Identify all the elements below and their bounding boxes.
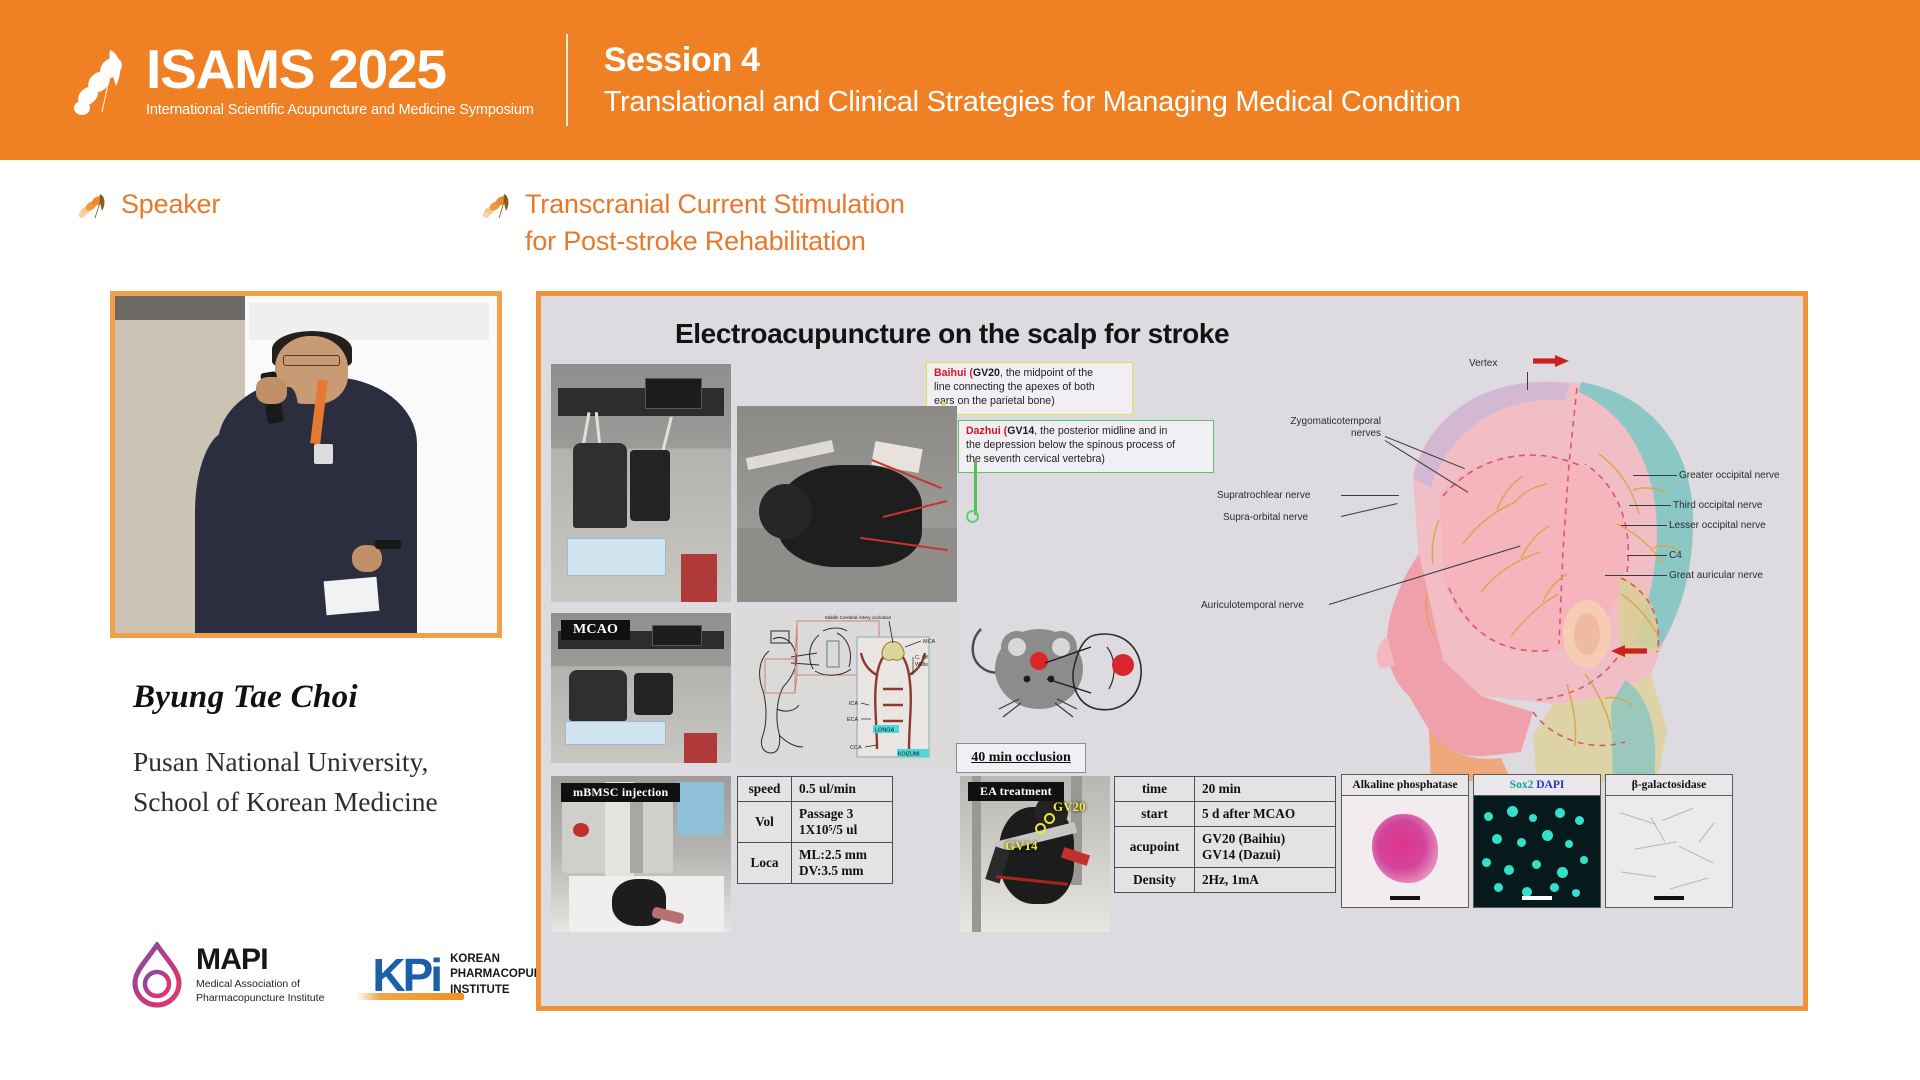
stain-title-sox2: Sox2 DAPI	[1473, 774, 1601, 796]
row-key: Vol	[738, 802, 792, 843]
logo-subtitle: International Scientific Acupuncture and…	[146, 102, 534, 118]
photo-mouse-stereotaxic	[737, 406, 957, 602]
callout-baihui: Baihui (GV20, the midpoint of the line c…	[926, 362, 1133, 415]
speaker-name: Byung Tae Choi	[133, 679, 358, 716]
speaker-heading-label: Speaker	[121, 186, 220, 223]
anatomy-label-supraorbital: Supra-orbital nerve	[1223, 512, 1308, 524]
mapi-sub-1: Medical Association of	[196, 978, 324, 991]
row-key: start	[1115, 802, 1195, 827]
ea-parameters-table: time 20 min start 5 d after MCAO acupoin…	[1114, 776, 1336, 893]
slide-title: Electroacupuncture on the scalp for stro…	[675, 318, 1229, 350]
row-value: 2Hz, 1mA	[1195, 868, 1336, 893]
row-key: time	[1115, 777, 1195, 802]
photo-bmsc-injection: mBMSC injection	[551, 776, 731, 932]
row-key: speed	[738, 777, 792, 802]
photo-surgical-rig	[551, 364, 731, 602]
occlusion-duration-box: 40 min occlusion	[956, 743, 1086, 773]
callout-baihui-line-1: Baihui (GV20, the midpoint of the	[934, 367, 1126, 381]
image-tag-bmsc: mBMSC injection	[561, 783, 680, 802]
isams-logo: ISAMS 2025 International Scientific Acup…	[68, 40, 534, 120]
arrow-icon-vertex	[1533, 354, 1569, 366]
logo-title: ISAMS 2025	[146, 42, 534, 97]
ea-label-gv20: GV20	[1053, 799, 1086, 815]
stain-panel-alp: Alkaline phosphatase	[1341, 774, 1469, 908]
row-value: 5 d after MCAO	[1195, 802, 1336, 827]
stain-image-bgal	[1605, 796, 1733, 908]
anatomy-label-auriculotemporal: Auriculotemporal nerve	[1201, 600, 1304, 612]
anatomy-label-zygomaticotemporal: Zygomaticotemporal nerves	[1231, 416, 1381, 440]
callout-dazhui-line-2: the depression below the spinous process…	[966, 439, 1207, 453]
affiliation-line-1: Pusan National University,	[133, 742, 438, 782]
row-key: Density	[1115, 868, 1195, 893]
header-divider	[566, 34, 568, 126]
callout-dazhui: Dazhui (GV14, the posterior midline and …	[958, 420, 1214, 473]
mcao-schematic: MCA C. Of Willis ICA ECA CCA LONGA KOIZU…	[737, 613, 959, 763]
arrow-icon-neck	[1611, 644, 1647, 656]
mapi-name: MAPI	[196, 945, 324, 975]
stain-panel-bgal: β-galactosidase	[1605, 774, 1733, 908]
table-row: acupoint GV20 (Baihiu) GV14 (Dazui)	[1115, 827, 1336, 868]
svg-text:C. Of: C. Of	[915, 655, 928, 661]
topic-line-1: Transcranial Current Stimulation	[525, 186, 905, 223]
stain-title-bgal: β-galactosidase	[1605, 774, 1733, 796]
stain-title-alp: Alkaline phosphatase	[1341, 774, 1469, 796]
svg-text:LONGA: LONGA	[875, 728, 895, 734]
row-value: 20 min	[1195, 777, 1336, 802]
speaker-photo	[110, 291, 502, 638]
photo-mcao-setup: MCAO	[551, 613, 731, 763]
anatomy-label-greater-occipital: Greater occipital nerve	[1679, 470, 1780, 482]
mouse-brain-illustration	[965, 613, 1145, 735]
image-tag-ea: EA treatment	[968, 782, 1064, 801]
table-row: Density 2Hz, 1mA	[1115, 868, 1336, 893]
svg-text:Middle Cerebral Artery occlusi: Middle Cerebral Artery occlusion	[825, 615, 892, 620]
anatomy-label-third-occipital: Third occipital nerve	[1673, 500, 1762, 512]
kpi-mark: KPi	[372, 952, 440, 998]
ea-label-gv14: GV14	[1005, 838, 1038, 854]
mapi-subtitle: Medical Association of Pharmacopuncture …	[196, 978, 324, 1004]
row-value: GV20 (Baihiu) GV14 (Dazui)	[1195, 827, 1336, 868]
topic-heading-label: Transcranial Current Stimulation for Pos…	[525, 186, 905, 260]
schematic-label-mca: MCA	[923, 639, 936, 645]
injection-parameters-table: speed 0.5 ul/min Vol Passage 3 1X10⁵/5 u…	[737, 776, 893, 884]
svg-text:CCA: CCA	[850, 745, 862, 751]
table-row: Vol Passage 3 1X10⁵/5 ul	[738, 802, 893, 843]
table-row: Loca ML:2.5 mm DV:3.5 mm	[738, 843, 893, 884]
bee-icon	[68, 40, 140, 120]
stain-panel-sox2: Sox2 DAPI	[1473, 774, 1601, 908]
image-tag-mcao: MCAO	[561, 620, 630, 640]
topic-section-heading: Transcranial Current Stimulation for Pos…	[482, 186, 905, 260]
speaker-section-heading: Speaker	[78, 186, 220, 223]
sponsor-logos: MAPI Medical Association of Pharmacopunc…	[128, 942, 582, 1008]
row-value: 0.5 ul/min	[792, 777, 893, 802]
affiliation-line-2: School of Korean Medicine	[133, 782, 438, 822]
table-row: speed 0.5 ul/min	[738, 777, 893, 802]
row-value: ML:2.5 mm DV:3.5 mm	[792, 843, 893, 884]
page-header: ISAMS 2025 International Scientific Acup…	[0, 0, 1920, 160]
slide-page: ISAMS 2025 International Scientific Acup…	[0, 0, 1920, 1080]
svg-text:ECA: ECA	[847, 717, 859, 723]
callout-dazhui-line-1: Dazhui (GV14, the posterior midline and …	[966, 425, 1207, 439]
svg-text:ICA: ICA	[849, 701, 859, 707]
speaker-photo-image	[115, 296, 497, 633]
session-title: Session 4	[604, 40, 1461, 80]
svg-text:Willis: Willis	[915, 662, 928, 668]
callout-baihui-line-2: line connecting the apexes of both	[934, 381, 1126, 395]
occlusion-label: 40 min occlusion	[971, 750, 1071, 766]
stain-image-sox2	[1473, 796, 1601, 908]
droplet-icon	[128, 942, 186, 1008]
stain-title-part-sox2: Sox2	[1510, 779, 1534, 791]
mapi-sub-2: Pharmacopuncture Institute	[196, 992, 324, 1005]
topic-line-2: for Post-stroke Rehabilitation	[525, 223, 905, 260]
session-block: Session 4 Translational and Clinical Str…	[604, 40, 1461, 120]
acupoint-marker-gv14	[966, 510, 979, 523]
photo-ea-treatment: GV20 GV14 EA treatment	[960, 776, 1110, 932]
mapi-logo: MAPI Medical Association of Pharmacopunc…	[128, 942, 324, 1008]
anatomy-label-lesser-occipital: Lesser occipital nerve	[1669, 520, 1766, 532]
row-key: acupoint	[1115, 827, 1195, 868]
row-key: Loca	[738, 843, 792, 884]
bee-icon	[482, 191, 516, 221]
row-value: Passage 3 1X10⁵/5 ul	[792, 802, 893, 843]
staining-panels: Alkaline phosphatase Sox2 DAPI	[1341, 774, 1733, 908]
table-row: time 20 min	[1115, 777, 1336, 802]
anatomy-label-vertex: Vertex	[1469, 358, 1497, 370]
presentation-slide: Electroacupuncture on the scalp for stro…	[536, 291, 1808, 1011]
stain-image-alp	[1341, 796, 1469, 908]
table-row: start 5 d after MCAO	[1115, 802, 1336, 827]
scalp-innervation-diagram: Vertex Zygomaticotemporal nerves Supratr…	[1181, 344, 1801, 792]
stain-title-part-dapi: DAPI	[1536, 779, 1564, 791]
leader-line-green	[974, 460, 977, 515]
speaker-affiliation: Pusan National University, School of Kor…	[133, 742, 438, 821]
svg-text:KOIZUMI: KOIZUMI	[898, 752, 920, 758]
bee-icon	[78, 191, 112, 221]
callout-baihui-line-3: ears on the parietal bone)	[934, 395, 1126, 409]
anatomy-label-c4: C4	[1669, 550, 1682, 562]
callout-dazhui-line-3: the seventh cervical vertebra)	[966, 453, 1207, 467]
session-subtitle: Translational and Clinical Strategies fo…	[604, 84, 1461, 120]
anatomy-label-supratrochlear: Supratrochlear nerve	[1217, 490, 1310, 502]
anatomy-label-great-auricular: Great auricular nerve	[1669, 570, 1763, 582]
